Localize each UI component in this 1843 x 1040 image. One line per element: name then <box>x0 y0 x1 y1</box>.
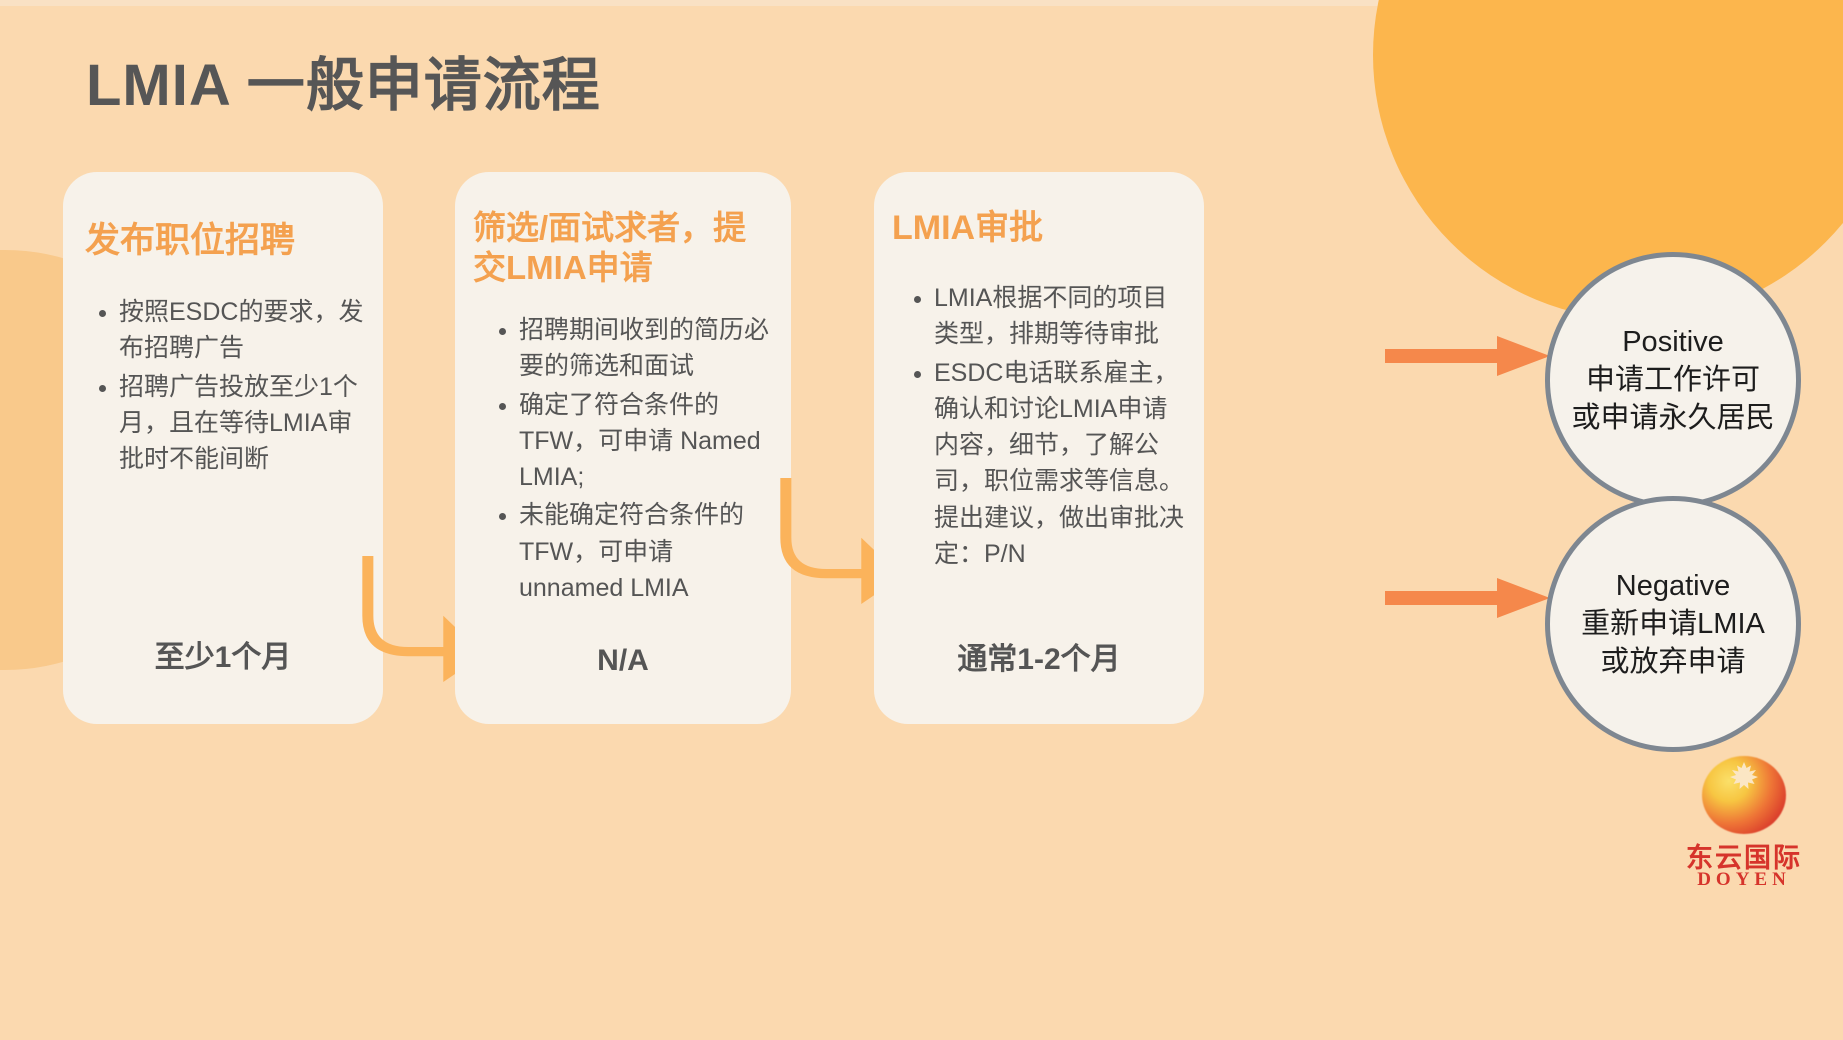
card-title: 筛选/面试求者，提交LMIA申请 <box>473 208 779 289</box>
process-card-publish-job: 发布职位招聘 按照ESDC的要求，发布招聘广告 招聘广告投放至少1个月，且在等待… <box>63 172 383 724</box>
list-item: 招聘期间收到的简历必要的筛选和面试 <box>519 312 777 385</box>
outcome-positive: Positive 申请工作许可 或申请永久居民 <box>1545 252 1801 508</box>
card-duration: N/A <box>455 644 791 678</box>
outcome-line-3: 或放弃申请 <box>1600 643 1745 681</box>
list-item: 确定了符合条件的TFW，可申请 Named LMIA; <box>519 387 777 496</box>
card-title: LMIA审批 <box>892 208 1192 249</box>
process-card-screen-submit: 筛选/面试求者，提交LMIA申请 招聘期间收到的简历必要的筛选和面试 确定了符合… <box>455 172 791 724</box>
outcome-label: Positive <box>1622 323 1724 361</box>
outcome-line-2: 重新申请LMIA <box>1581 605 1765 643</box>
arrow-right-icon-negative <box>1385 578 1550 618</box>
outcome-line-3: 或申请永久居民 <box>1571 399 1774 437</box>
list-item: 招聘广告投放至少1个月，且在等待LMIA审批时不能间断 <box>119 369 367 478</box>
company-logo: 东云国际 DOYEN <box>1664 756 1824 906</box>
outcome-negative: Negative 重新申请LMIA 或放弃申请 <box>1545 496 1801 752</box>
outcome-label: Negative <box>1616 567 1730 605</box>
outcome-line-2: 申请工作许可 <box>1586 361 1760 399</box>
logo-english-name: DOYEN <box>1664 869 1824 891</box>
card-title: 发布职位招聘 <box>85 220 371 263</box>
card-bullet-list: 按照ESDC的要求，发布招聘广告 招聘广告投放至少1个月，且在等待LMIA审批时… <box>77 294 377 479</box>
list-item: 按照ESDC的要求，发布招聘广告 <box>119 294 367 367</box>
card-bullet-list: 招聘期间收到的简历必要的筛选和面试 确定了符合条件的TFW，可申请 Named … <box>477 312 787 608</box>
list-item: 未能确定符合条件的TFW，可申请 unnamed LMIA <box>519 497 777 606</box>
page-title: LMIA 一般申请流程 <box>86 38 601 122</box>
card-duration: 至少1个月 <box>63 632 383 676</box>
card-duration: 通常1-2个月 <box>874 634 1204 678</box>
list-item: ESDC电话联系雇主，确认和讨论LMIA申请内容，细节，了解公司，职位需求等信息… <box>934 355 1190 573</box>
list-item: LMIA根据不同的项目类型，排期等待审批 <box>934 280 1190 353</box>
arrow-right-icon-positive <box>1385 336 1550 376</box>
process-card-lmia-approval: LMIA审批 LMIA根据不同的项目类型，排期等待审批 ESDC电话联系雇主，确… <box>874 172 1204 724</box>
card-bullet-list: LMIA根据不同的项目类型，排期等待审批 ESDC电话联系雇主，确认和讨论LMI… <box>892 280 1200 574</box>
maple-leaf-icon <box>1730 762 1758 792</box>
